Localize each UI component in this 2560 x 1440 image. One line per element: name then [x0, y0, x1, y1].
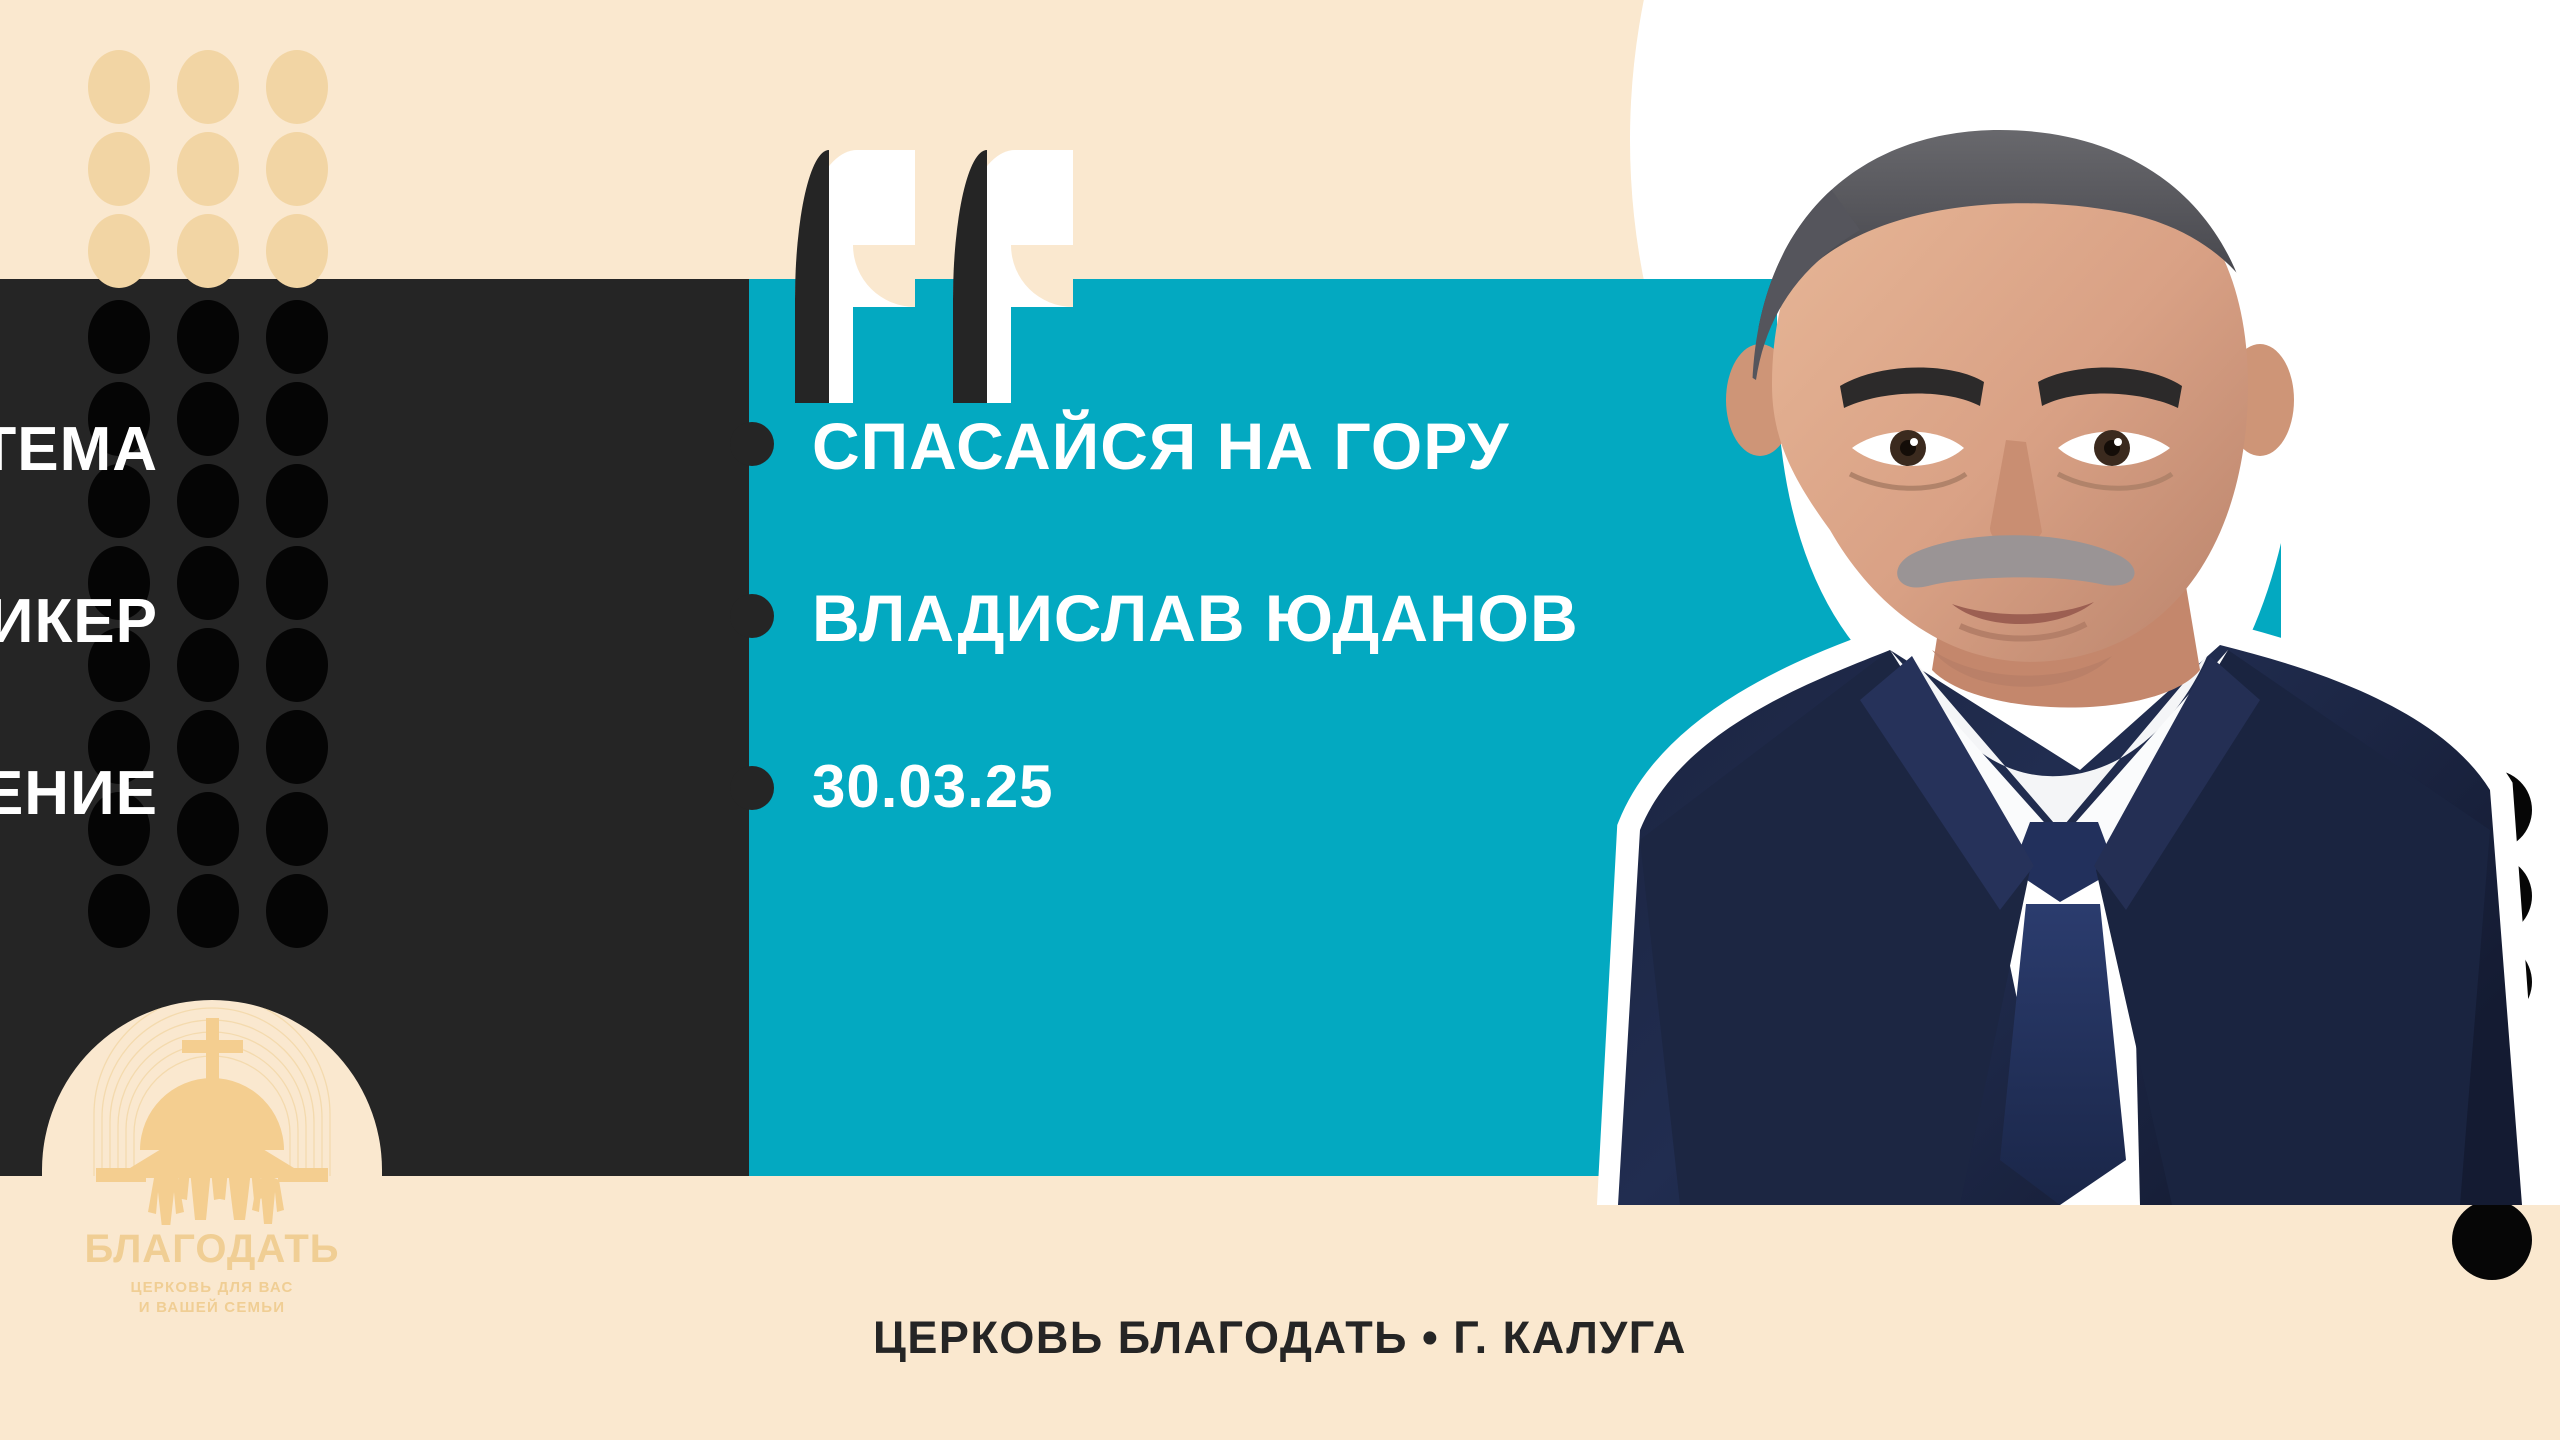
- decor-dot: [266, 214, 328, 288]
- footer-text: ЦЕРКОВЬ БЛАГОДАТЬ • Г. КАЛУГА: [873, 1312, 1687, 1363]
- decor-dot: [88, 50, 150, 124]
- bullet-icon: [730, 766, 774, 810]
- church-logo-tagline-line1: ЦЕРКОВЬ ДЛЯ ВАС: [42, 1278, 382, 1298]
- info-row-topic: ТЕМА СПАСАЙСЯ НА ГОРУ: [0, 400, 2000, 572]
- info-rows: ТЕМА СПАСАЙСЯ НА ГОРУ СПИКЕР ВЛАДИСЛАВ Ю…: [0, 400, 2000, 916]
- logo-step-right: [278, 1168, 328, 1182]
- decor-dot: [88, 300, 150, 374]
- decor-dot: [2452, 1200, 2532, 1280]
- decor-dot: [88, 132, 150, 206]
- quote-cut-bottom: [1011, 307, 1073, 403]
- service-date-value: 30.03.25: [812, 752, 1054, 821]
- quote-edge: [795, 150, 829, 403]
- quote-glyph-left: [795, 150, 915, 403]
- decor-dot: [88, 214, 150, 288]
- decor-dot: [177, 132, 239, 206]
- logo-cross-horizontal: [182, 1040, 243, 1053]
- bullet-icon: [730, 422, 774, 466]
- info-row-speaker: СПИКЕР ВЛАДИСЛАВ ЮДАНОВ: [0, 572, 2000, 744]
- church-family-icon: [42, 1000, 382, 1225]
- footer: ЦЕРКОВЬ БЛАГОДАТЬ • Г. КАЛУГА: [0, 1312, 2560, 1364]
- speaker-value: ВЛАДИСЛАВ ЮДАНОВ: [812, 580, 1579, 656]
- topic-label: ТЕМА: [0, 414, 158, 485]
- speaker-label: СПИКЕР: [0, 586, 158, 657]
- quote-glyph-right: [953, 150, 1073, 403]
- logo-step-left: [96, 1168, 146, 1182]
- service-label: СЛУЖЕНИЕ: [0, 758, 158, 829]
- decor-dot: [177, 300, 239, 374]
- quote-edge: [953, 150, 987, 403]
- bullet-icon: [730, 594, 774, 638]
- decor-dot: [177, 214, 239, 288]
- decor-dot: [266, 132, 328, 206]
- quote-cut-bottom: [853, 307, 915, 403]
- presentation-slide: ТЕМА СПАСАЙСЯ НА ГОРУ СПИКЕР ВЛАДИСЛАВ Ю…: [0, 0, 2560, 1440]
- church-logo-mark: [42, 1000, 382, 1225]
- info-row-service: СЛУЖЕНИЕ 30.03.25: [0, 744, 2000, 916]
- church-logo-name: БЛАГОДАТЬ: [42, 1227, 382, 1272]
- quote-mark-icon: [795, 150, 1095, 410]
- church-logo: БЛАГОДАТЬ ЦЕРКОВЬ ДЛЯ ВАС И ВАШЕЙ СЕМЬИ: [42, 1000, 382, 1440]
- topic-value: СПАСАЙСЯ НА ГОРУ: [812, 408, 1509, 484]
- decor-dot: [266, 50, 328, 124]
- decor-dot: [266, 300, 328, 374]
- decor-dot: [177, 50, 239, 124]
- logo-cross-vertical: [206, 1018, 219, 1110]
